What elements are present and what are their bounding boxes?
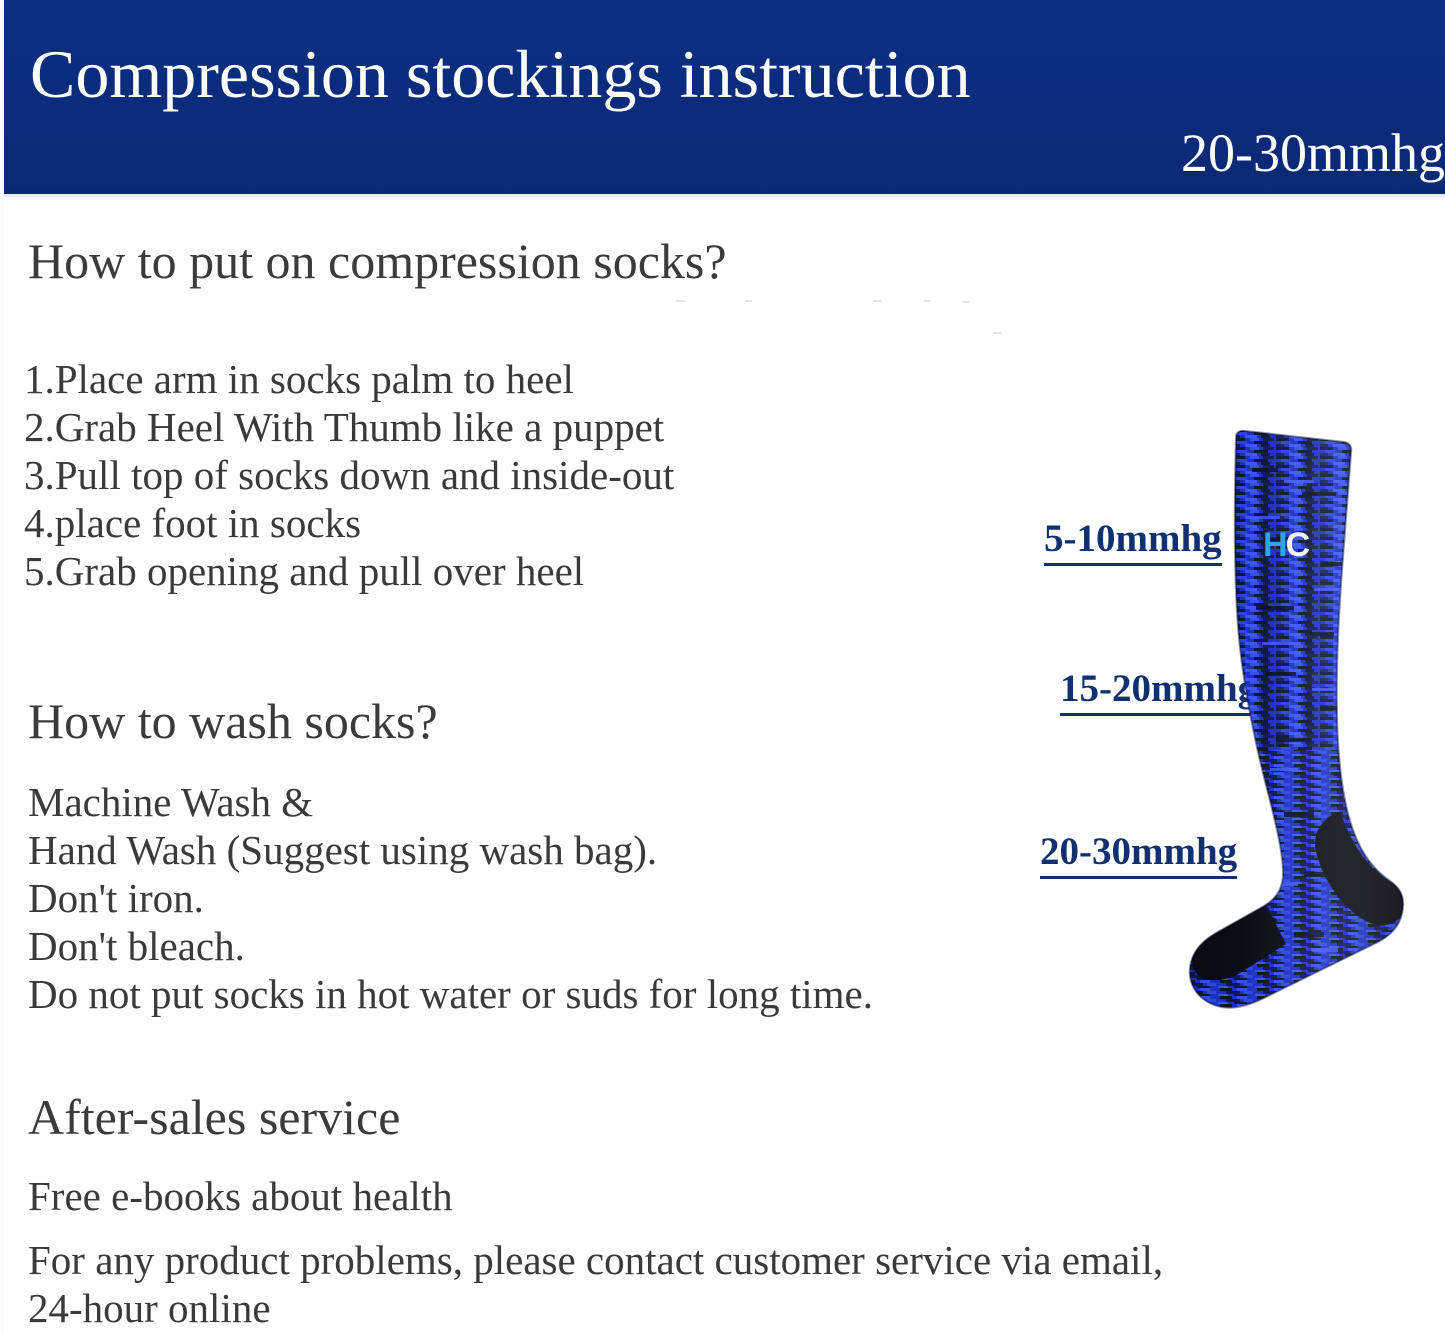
page-title: Compression stockings instruction (30, 36, 971, 112)
sock-brand-logo: HC (1263, 528, 1308, 562)
scan-artifact (963, 301, 969, 303)
scan-artifact (745, 300, 752, 302)
put-on-steps-list: 1.Place arm in socks palm to heel 2.Grab… (24, 355, 674, 595)
sock-body (1144, 420, 1444, 1030)
list-item: 24-hour online (28, 1284, 1163, 1332)
list-item: Hand Wash (Suggest using wash bag). (28, 826, 873, 874)
list-item: 2.Grab Heel With Thumb like a puppet (24, 403, 674, 451)
section-heading-wash: How to wash socks? (28, 692, 438, 750)
list-item: Don't bleach. (28, 922, 873, 970)
logo-letter-h: H (1263, 526, 1286, 564)
header-banner: Compression stockings instruction 20-30m… (4, 0, 1445, 194)
list-item: 3.Pull top of socks down and inside-out (24, 451, 674, 499)
scan-artifact (873, 300, 881, 302)
section-heading-put-on: How to put on compression socks? (28, 232, 727, 290)
section-heading-after-sales: After-sales service (28, 1088, 400, 1146)
list-item: For any product problems, please contact… (28, 1236, 1163, 1284)
scan-artifact (676, 300, 685, 302)
list-item: 4.place foot in socks (24, 499, 674, 547)
banner-pressure-rating: 20-30mmhg (1181, 122, 1445, 184)
list-item: Machine Wash & (28, 778, 873, 826)
list-item: 5.Grab opening and pull over heel (24, 547, 674, 595)
list-item: 1.Place arm in socks palm to heel (24, 355, 674, 403)
scan-artifact (993, 332, 1001, 334)
logo-letter-c: C (1286, 526, 1309, 564)
list-item: Don't iron. (28, 874, 873, 922)
after-sales-text: Free e-books about health For any produc… (28, 1172, 1163, 1332)
list-item: Free e-books about health (28, 1172, 1163, 1220)
list-item: Do not put socks in hot water or suds fo… (28, 970, 873, 1018)
banner-divider (4, 194, 1445, 197)
compression-sock-image: HC (1144, 420, 1444, 1030)
scan-artifact (924, 300, 931, 302)
compression-stockings-instruction-page: Compression stockings instruction 20-30m… (0, 0, 1445, 1334)
wash-instructions-list: Machine Wash & Hand Wash (Suggest using … (28, 778, 873, 1018)
sock-illustration-svg (1144, 420, 1444, 1030)
